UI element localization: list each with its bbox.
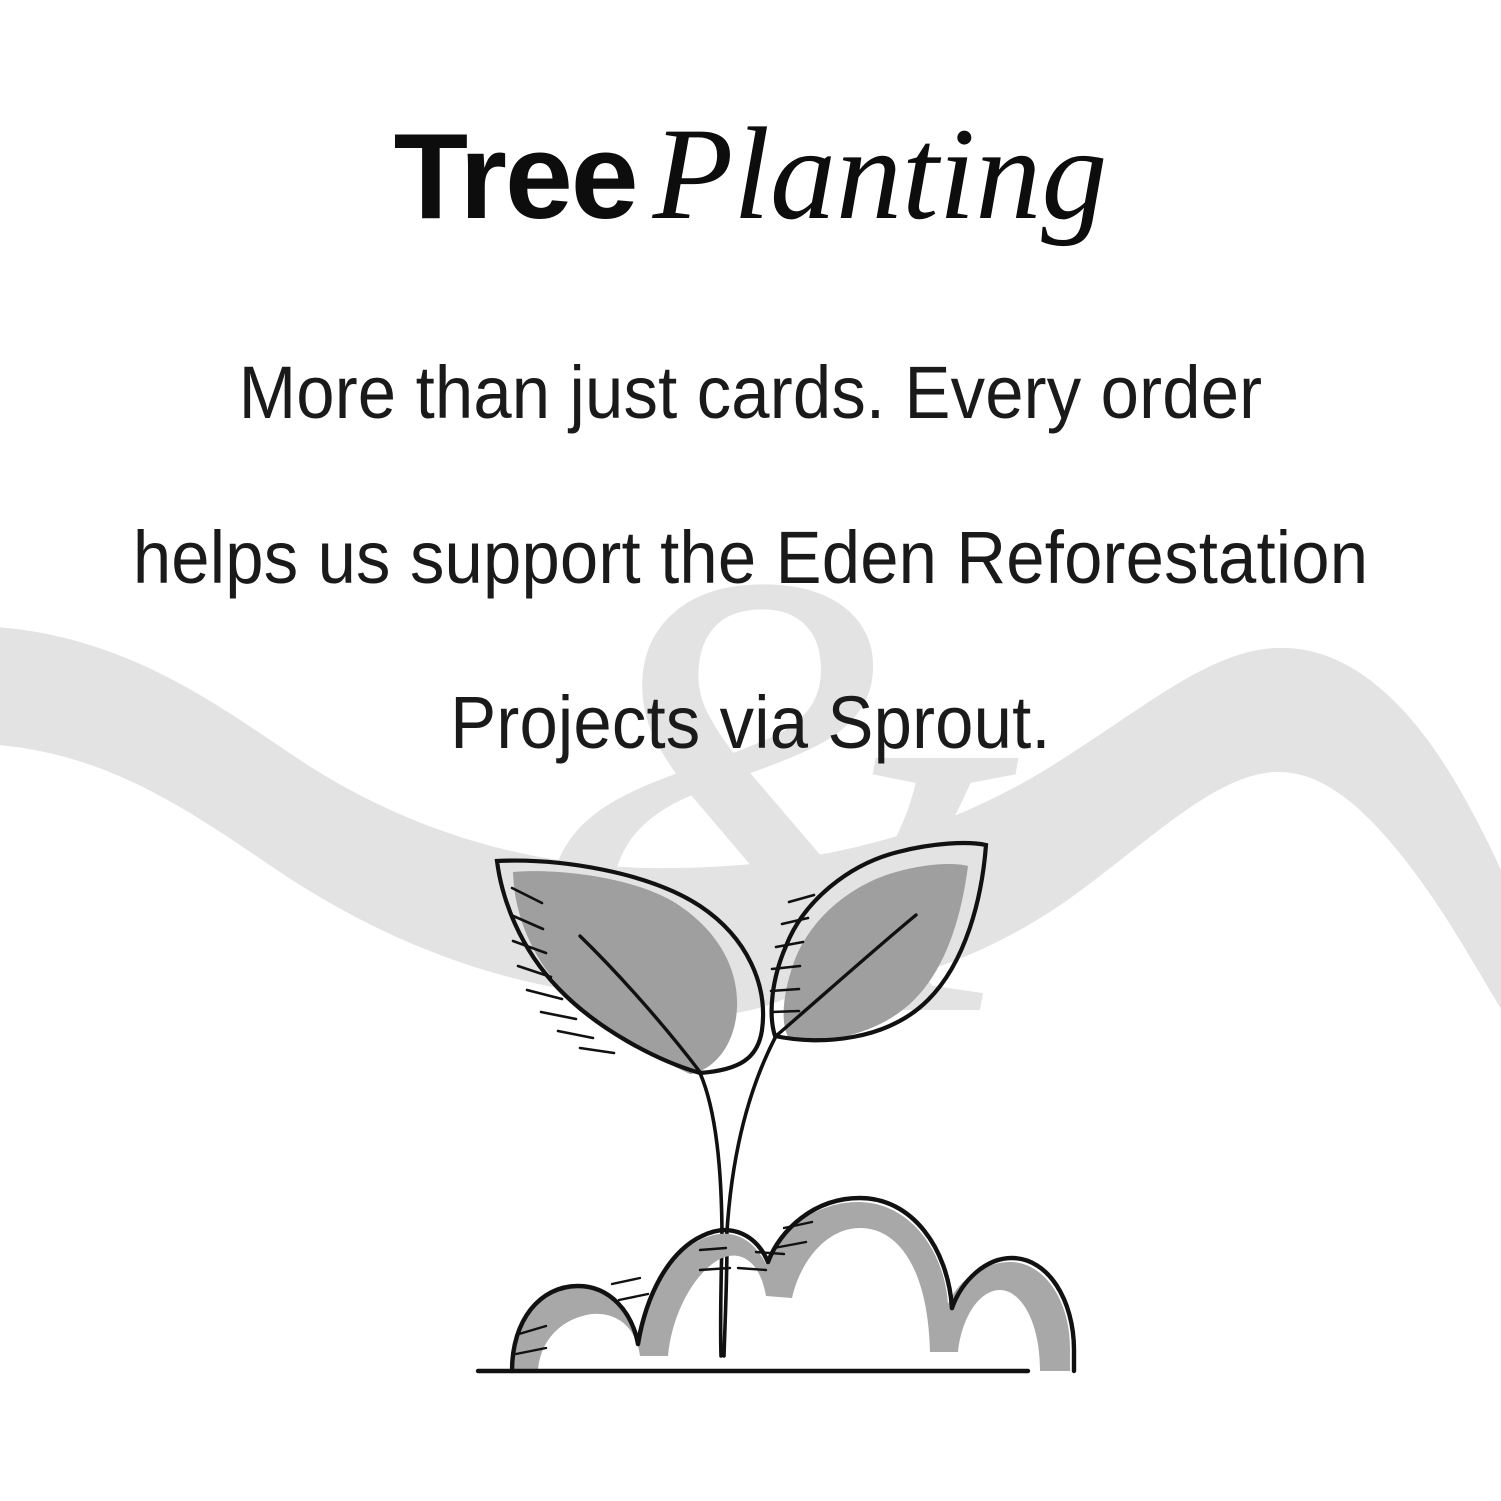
right-leaf-fill (784, 864, 968, 1041)
seedling-sprout-illustration (0, 0, 1501, 1501)
stem-main-2 (724, 1240, 727, 1356)
left-leaf (497, 861, 763, 1074)
right-leaf (771, 843, 986, 1041)
soil-mound (512, 1198, 1074, 1371)
stem (700, 1036, 776, 1356)
stem-left-branch (700, 1073, 722, 1240)
tree-planting-promo-card: & TreePlanting More than just cards. Eve… (0, 0, 1501, 1501)
